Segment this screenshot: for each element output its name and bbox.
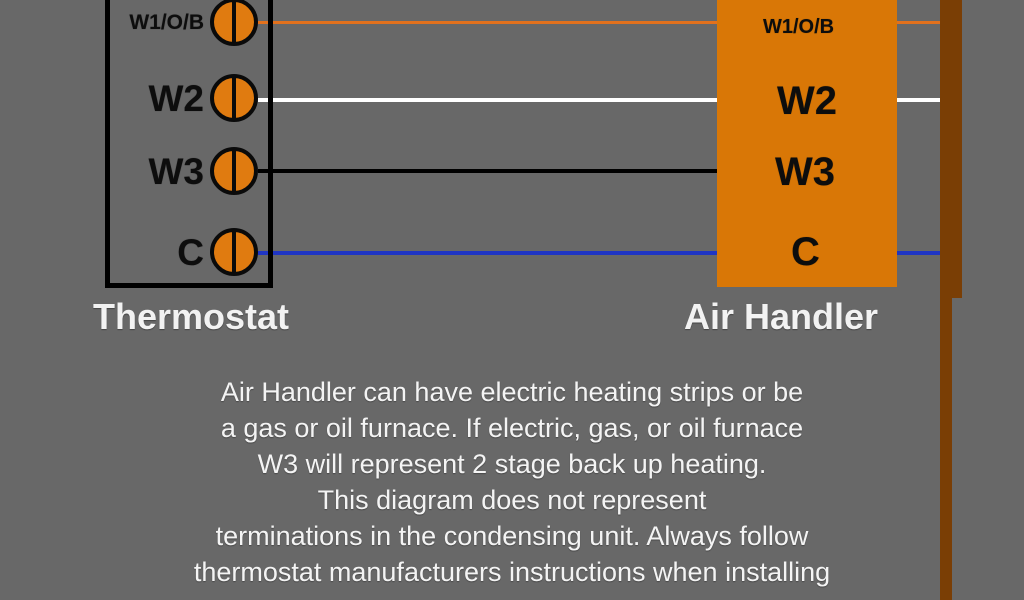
- terminal-screw-icon[interactable]: [210, 74, 258, 122]
- thermostat-terminal-c[interactable]: C: [112, 226, 262, 278]
- wiring-diagram-canvas: W1/O/B W2 W3 C W1/O/B W2 W3 C Thermostat…: [0, 0, 1024, 600]
- thermostat-terminal-w2[interactable]: W2: [112, 72, 262, 124]
- note-line: This diagram does not represent: [0, 482, 1024, 518]
- thermostat-terminal-label: W3: [112, 153, 204, 190]
- diagram-note: Air Handler can have electric heating st…: [0, 374, 1024, 590]
- terminal-screw-icon[interactable]: [210, 147, 258, 195]
- note-line: Air Handler can have electric heating st…: [0, 374, 1024, 410]
- thermostat-terminal-w3[interactable]: W3: [112, 145, 262, 197]
- note-line: thermostat manufacturers instructions wh…: [0, 554, 1024, 590]
- air-handler-caption: Air Handler: [684, 299, 878, 335]
- note-line: a gas or oil furnace. If electric, gas, …: [0, 410, 1024, 446]
- thermostat-terminal-label: W2: [112, 80, 204, 117]
- air-handler-terminal-w2: W2: [777, 81, 837, 121]
- terminal-screw-icon[interactable]: [210, 0, 258, 46]
- air-handler-terminal-w3: W3: [775, 152, 835, 192]
- thermostat-terminal-w1-o-b[interactable]: W1/O/B: [112, 0, 262, 48]
- terminal-screw-icon[interactable]: [210, 228, 258, 276]
- thermostat-terminal-label: C: [112, 234, 204, 271]
- note-line: W3 will represent 2 stage back up heatin…: [0, 446, 1024, 482]
- air-handler-terminal-c: C: [791, 232, 820, 272]
- note-line: terminations in the condensing unit. Alw…: [0, 518, 1024, 554]
- air-handler-terminal-w1-o-b: W1/O/B: [763, 17, 834, 37]
- thermostat-terminal-label: W1/O/B: [112, 12, 204, 33]
- conduit-bar: [940, 0, 962, 298]
- thermostat-caption: Thermostat: [93, 299, 289, 335]
- wire-w3: [258, 169, 772, 173]
